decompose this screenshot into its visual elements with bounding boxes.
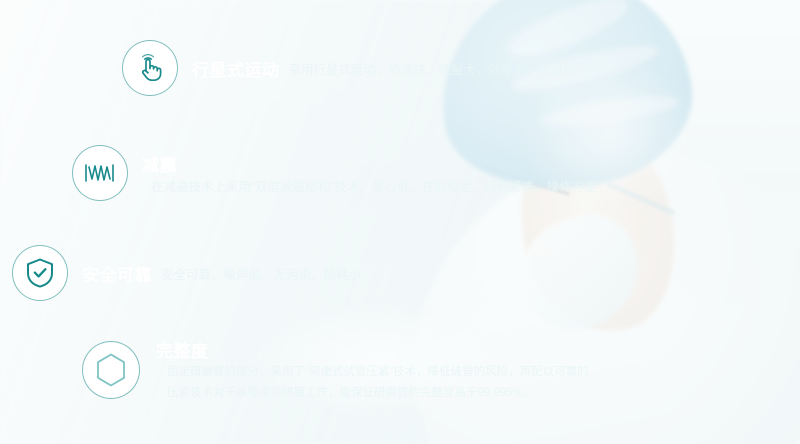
feature-row-vibration-damping: 减震 在减震技术上采用“双层减震结构”技术，重心低、性能稳定、结构紧凑、操作方便 — [68, 142, 628, 204]
feature-description: 固定研磨管的部分，采用了“简便式试管压紧”技术，降低破管的风险，再配以可靠的 压… — [167, 362, 589, 404]
feature-title: 完整度 — [156, 337, 209, 362]
feature-description: 安全可靠、噪声低、无污染、损耗小 — [161, 264, 361, 283]
feature-description-line: 固定研磨管的部分，采用了“简便式试管压紧”技术，降低破管的风险，再配以可靠的 — [167, 362, 589, 383]
feature-title: 减震 — [142, 151, 177, 176]
feature-description: 在减震技术上采用“双层减震结构”技术，重心低、性能稳定、结构紧凑、操作方便 — [151, 176, 597, 195]
feature-description-line: 压紧技术对于高强度的研磨工作，能保证研磨管的完整度高于99.995%。 — [167, 383, 589, 404]
feature-text: 行星式运动 采用行星式运动，转速快、能量大、效率高、粒度细 — [192, 56, 576, 81]
shield-check-icon — [12, 245, 68, 301]
vibration-wave-icon — [72, 145, 128, 201]
feature-row-safe-reliable: 安全可靠 安全可靠、噪声低、无污染、损耗小 — [8, 242, 663, 304]
feature-list: 行星式运动 采用行星式运动，转速快、能量大、效率高、粒度细 减震 在减震技术上采… — [0, 0, 800, 444]
feature-text: 安全可靠 安全可靠、噪声低、无污染、损耗小 — [82, 261, 361, 286]
hexagon-icon — [82, 341, 140, 399]
feature-description: 采用行星式运动，转速快、能量大、效率高、粒度细 — [289, 59, 577, 78]
feature-row-integrity: 完整度 固定研磨管的部分，采用了“简便式试管压紧”技术，降低破管的风险，再配以可… — [78, 336, 638, 404]
feature-text: 减震 在减震技术上采用“双层减震结构”技术，重心低、性能稳定、结构紧凑、操作方便 — [142, 151, 628, 195]
feature-row-planetary-motion: 行星式运动 采用行星式运动，转速快、能量大、效率高、粒度细 — [118, 36, 598, 100]
feature-title: 行星式运动 — [192, 56, 280, 81]
feature-text: 完整度 固定研磨管的部分，采用了“简便式试管压紧”技术，降低破管的风险，再配以可… — [156, 337, 638, 404]
hand-tap-icon — [122, 40, 178, 96]
feature-title: 安全可靠 — [82, 261, 152, 286]
